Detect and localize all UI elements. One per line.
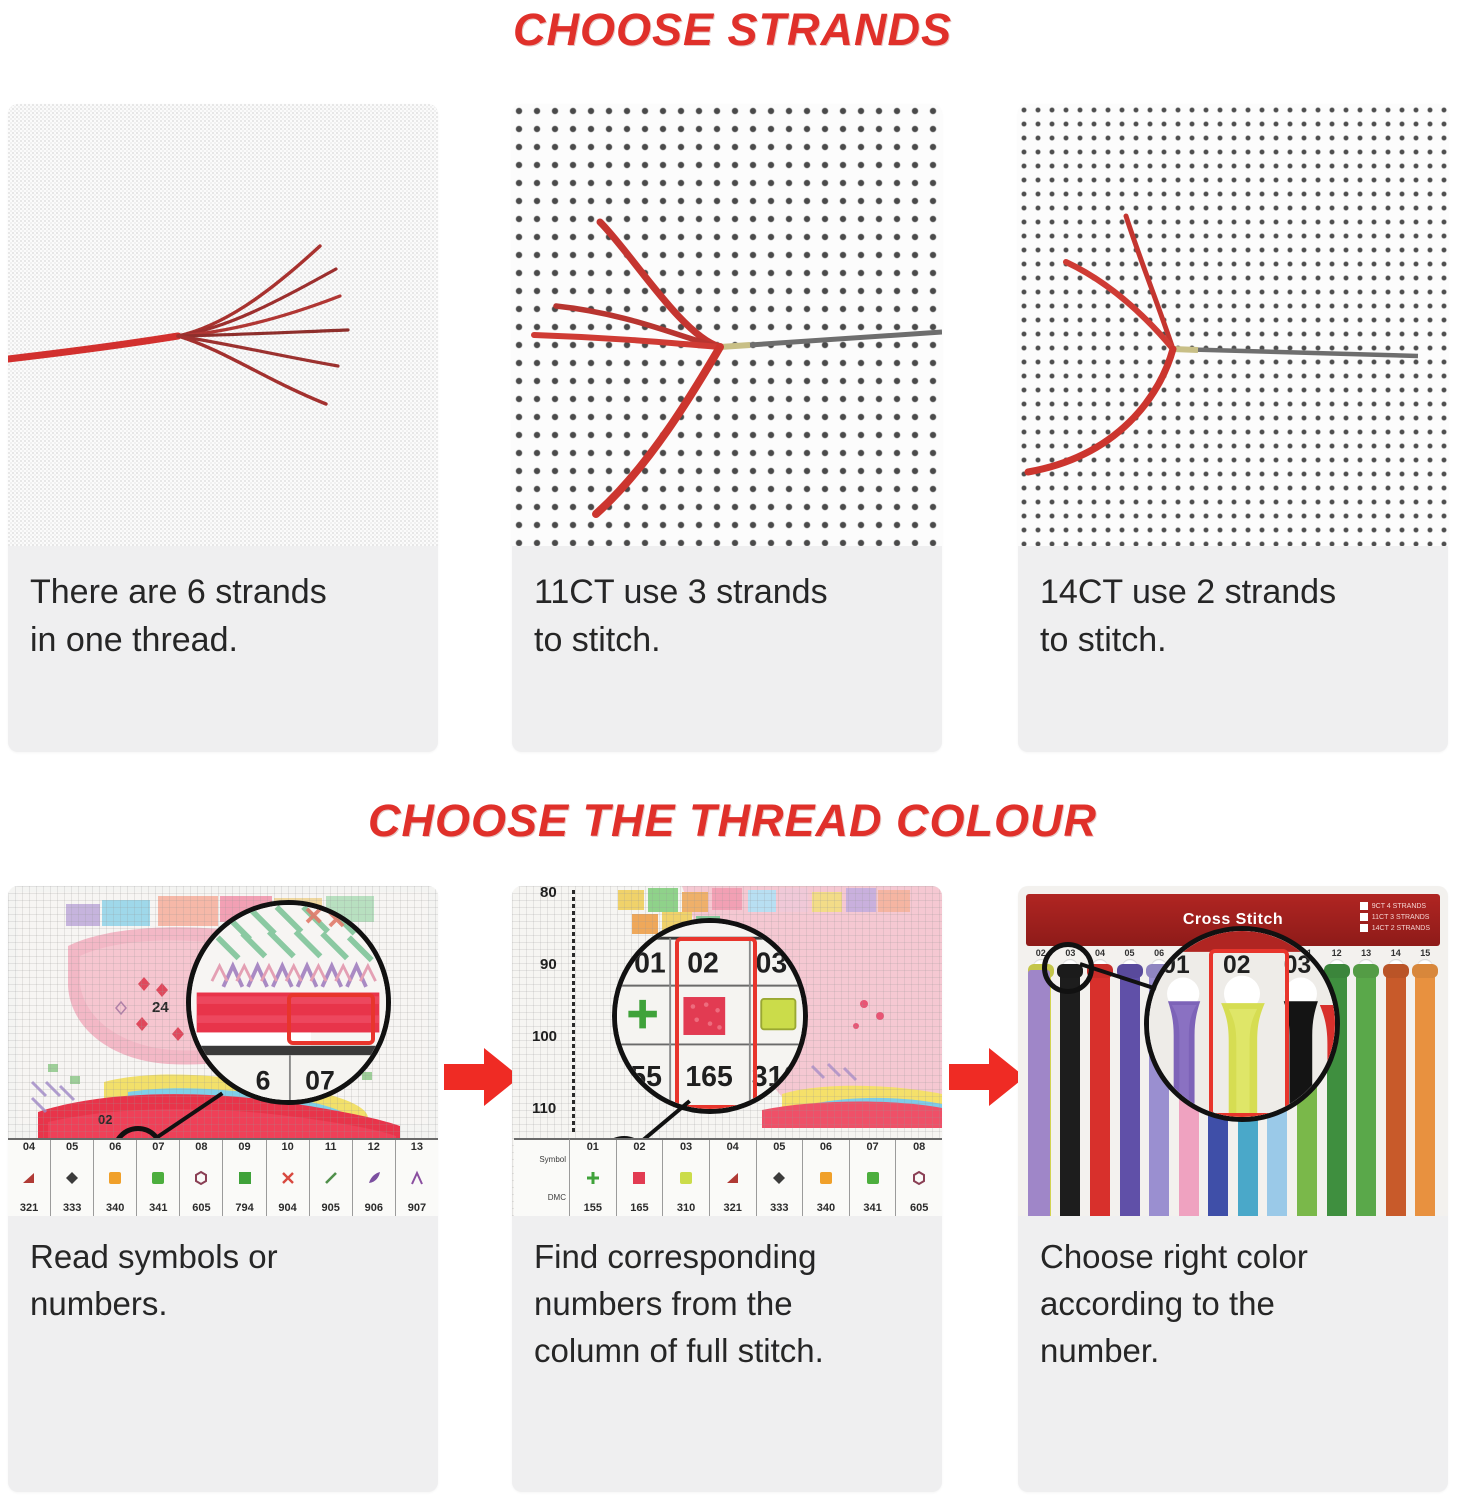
card-choose-color: Cross Stitch 9CT 4 STRANDS 11CT 3 STRAND… xyxy=(1018,886,1448,1492)
legend-column: 06 340 xyxy=(803,1140,850,1216)
legend-code: 321 xyxy=(724,1203,742,1214)
legend-column: 13 907 xyxy=(396,1140,438,1216)
caption-line-1: Read symbols or xyxy=(30,1234,416,1281)
caption-line-3: number. xyxy=(1040,1328,1426,1375)
axis-label-100: 100 xyxy=(532,1028,557,1045)
legend-column: 04 321 xyxy=(710,1140,757,1216)
legend-column: 07 341 xyxy=(137,1140,180,1216)
legend-code: 340 xyxy=(106,1203,124,1214)
checkbox-icon xyxy=(1360,924,1368,932)
caption-line-1: Choose right color xyxy=(1040,1234,1426,1281)
red-filled-square-icon xyxy=(630,1169,648,1187)
legend-column: 05 333 xyxy=(757,1140,804,1216)
legend-code: 905 xyxy=(322,1203,340,1214)
svg-text:01: 01 xyxy=(634,947,666,979)
slot-number: 14 xyxy=(1381,948,1411,958)
arrow-right-icon-2 xyxy=(949,1046,1025,1108)
card-six-strands-caption: There are 6 strands in one thread. xyxy=(8,546,438,675)
legend-number: 07 xyxy=(152,1142,164,1153)
thread-skein xyxy=(1120,970,1140,1216)
11ct-aida-needle-photo xyxy=(512,104,942,546)
six-strand-thread-photo xyxy=(8,104,438,546)
legend-number: 08 xyxy=(913,1142,925,1153)
caption-line-1: 11CT use 3 strands xyxy=(534,568,920,616)
green-filled-square-icon xyxy=(236,1169,254,1187)
legend-column: 02 165 xyxy=(617,1140,664,1216)
organizer-slot: 05 xyxy=(1115,948,1145,1216)
organizer-legend-row: 9CT 4 STRANDS xyxy=(1360,902,1430,910)
legend-column: 07 341 xyxy=(850,1140,897,1216)
axis-label-110: 110 xyxy=(532,1100,556,1117)
legend-code: 155 xyxy=(584,1203,602,1214)
legend-number: 04 xyxy=(727,1142,739,1153)
card-11ct-three-strands: 11CT use 3 strands to stitch. xyxy=(512,104,942,752)
organizer-legend-row: 11CT 3 STRANDS xyxy=(1360,913,1430,921)
card-six-strands: There are 6 strands in one thread. xyxy=(8,104,438,752)
legend-number: 06 xyxy=(109,1142,121,1153)
legend-column: 06 340 xyxy=(94,1140,137,1216)
legend-code: 907 xyxy=(408,1203,426,1214)
filled-triangle-icon xyxy=(724,1169,742,1187)
legend-number: 13 xyxy=(411,1142,423,1153)
legend-row-labels: Symbol DMC xyxy=(514,1138,570,1216)
organizer-legend: 9CT 4 STRANDS 11CT 3 STRANDS 14CT 2 STRA… xyxy=(1360,902,1430,935)
legend-code: 333 xyxy=(63,1203,81,1214)
green-plus-icon xyxy=(584,1169,602,1187)
legend-column: 10 904 xyxy=(267,1140,310,1216)
legend-code: 906 xyxy=(365,1203,383,1214)
needle-icon xyxy=(1173,349,1418,356)
legend-column: 04 321 xyxy=(8,1140,51,1216)
three-strand-needle-illustration xyxy=(512,104,942,546)
open-hexagon-icon xyxy=(192,1169,210,1187)
magnifier-lens-organizer: 01 02 03 xyxy=(1144,926,1340,1122)
legend-code: 321 xyxy=(20,1203,38,1214)
green-slash-icon xyxy=(322,1169,340,1187)
two-strand-needle-illustration xyxy=(1018,104,1448,546)
legend-code: 340 xyxy=(817,1203,835,1214)
legend-column: 05 333 xyxy=(51,1140,94,1216)
card-choose-color-caption: Choose right color according to the numb… xyxy=(1018,1216,1448,1385)
legend-number: 07 xyxy=(866,1142,878,1153)
card-find-numbers-caption: Find corresponding numbers from the colu… xyxy=(512,1216,942,1385)
slot-number: 12 xyxy=(1322,948,1352,958)
caption-line-2: to stitch. xyxy=(1040,616,1426,664)
legend-code: 333 xyxy=(770,1203,788,1214)
card-14ct-two-strands: 14CT use 2 strands to stitch. xyxy=(1018,104,1448,752)
legend-row-label-symbol: Symbol xyxy=(539,1155,566,1164)
thread-skein xyxy=(1090,970,1110,1216)
card-14ct-caption: 14CT use 2 strands to stitch. xyxy=(1018,546,1448,675)
legend-column: 03 310 xyxy=(663,1140,710,1216)
legend-number: 05 xyxy=(773,1142,785,1153)
caption-line-1: There are 6 strands xyxy=(30,568,416,616)
thread-organizer-photo: Cross Stitch 9CT 4 STRANDS 11CT 3 STRAND… xyxy=(1018,886,1448,1216)
open-hexagon-icon xyxy=(910,1169,928,1187)
legend-number: 11 xyxy=(325,1142,337,1153)
legend-row-label-dmc: DMC xyxy=(548,1193,566,1202)
legend-code: 341 xyxy=(863,1203,881,1214)
organizer-slot: 13 xyxy=(1351,948,1381,1216)
caption-line-1: 14CT use 2 strands xyxy=(1040,568,1426,616)
pattern-legend-photo: 80 90 100 110 xyxy=(512,886,942,1216)
14ct-aida-needle-photo xyxy=(1018,104,1448,546)
checkbox-icon xyxy=(1360,902,1368,910)
legend-number: 03 xyxy=(680,1142,692,1153)
purple-leaf-icon xyxy=(365,1169,383,1187)
caption-line-2: numbers from the xyxy=(534,1281,920,1328)
organizer-legend-text: 14CT 2 STRANDS xyxy=(1372,925,1430,932)
chart-y-axis xyxy=(572,890,575,1134)
legend-number: 12 xyxy=(368,1142,380,1153)
organizer-legend-text: 9CT 4 STRANDS xyxy=(1372,903,1426,910)
caption-line-2: numbers. xyxy=(30,1281,416,1328)
orange-square-icon xyxy=(817,1169,835,1187)
slot-number: 15 xyxy=(1411,948,1441,958)
section-title-choose-strands: CHOOSE STRANDS xyxy=(0,4,1465,56)
organizer-legend-text: 11CT 3 STRANDS xyxy=(1372,914,1430,921)
magnified-organizer-highlight-box xyxy=(1209,949,1289,1117)
caption-line-1: Find corresponding xyxy=(534,1234,920,1281)
needle-icon xyxy=(720,332,942,347)
magnified-legend-highlight-box xyxy=(675,937,757,1109)
legend-number: 02 xyxy=(633,1142,645,1153)
legend-column: 01 155 xyxy=(570,1140,617,1216)
legend-code: 165 xyxy=(630,1203,648,1214)
legend-number: 06 xyxy=(820,1142,832,1153)
legend-strip-full-stitch: 01 155 02 165 03 310 04 321 xyxy=(570,1138,942,1216)
organizer-slot: 04 xyxy=(1085,948,1115,1216)
legend-number: 05 xyxy=(66,1142,78,1153)
legend-number: 10 xyxy=(281,1142,293,1153)
legend-code: 794 xyxy=(235,1203,253,1214)
card-read-symbols: 24 02 xyxy=(8,886,438,1492)
section-title-choose-thread-colour: CHOOSE THE THREAD COLOUR xyxy=(0,795,1465,847)
thread-skein xyxy=(1415,970,1435,1216)
legend-number: 01 xyxy=(587,1142,599,1153)
axis-label-80: 80 xyxy=(540,886,557,901)
axis-label-90: 90 xyxy=(540,956,557,973)
legend-column: 08 605 xyxy=(896,1140,942,1216)
pattern-chart-photo: 24 02 xyxy=(8,886,438,1216)
legend-code: 605 xyxy=(192,1203,210,1214)
red-cross-icon xyxy=(279,1169,297,1187)
legend-code: 605 xyxy=(910,1203,928,1214)
slot-number: 13 xyxy=(1351,948,1381,958)
card-11ct-caption: 11CT use 3 strands to stitch. xyxy=(512,546,942,675)
svg-text:07: 07 xyxy=(305,1066,335,1096)
organizer-slot: 15 xyxy=(1411,948,1441,1216)
orange-square-icon xyxy=(106,1169,124,1187)
legend-code: 310 xyxy=(677,1203,695,1214)
legend-number: 09 xyxy=(238,1142,250,1153)
green-square-icon xyxy=(149,1169,167,1187)
pattern-legend-strip: 04 321 05 333 06 340 07 341 xyxy=(8,1138,438,1216)
thread-skein xyxy=(1386,970,1406,1216)
legend-column: 09 794 xyxy=(223,1140,266,1216)
green-square-icon xyxy=(864,1169,882,1187)
slot-number: 05 xyxy=(1115,948,1145,958)
six-strand-illustration xyxy=(8,104,438,546)
magnifier-lens-legend: 01 02 03 55 165 310 xyxy=(612,918,808,1114)
legend-code: 904 xyxy=(278,1203,296,1214)
svg-text:6: 6 xyxy=(256,1066,271,1096)
legend-code: 341 xyxy=(149,1203,167,1214)
card-find-numbers: 80 90 100 110 xyxy=(512,886,942,1492)
thread-skein-first xyxy=(1028,970,1050,1216)
thread-skein xyxy=(1060,970,1080,1216)
yellow-green-square-icon xyxy=(677,1169,695,1187)
legend-number: 08 xyxy=(195,1142,207,1153)
caption-line-2: in one thread. xyxy=(30,616,416,664)
caption-line-2: to stitch. xyxy=(534,616,920,664)
arrow-right-icon-1 xyxy=(444,1046,520,1108)
purple-caret-icon xyxy=(408,1169,426,1187)
magnified-highlight-box xyxy=(287,993,375,1045)
legend-column: 11 905 xyxy=(310,1140,353,1216)
black-diamond-icon xyxy=(770,1169,788,1187)
caption-line-2: according to the xyxy=(1040,1281,1426,1328)
filled-triangle-icon xyxy=(20,1169,38,1187)
black-diamond-icon xyxy=(63,1169,81,1187)
thread-skein xyxy=(1356,970,1376,1216)
svg-text:03: 03 xyxy=(756,947,788,979)
magnifier-lens-pattern: 07 6 xyxy=(186,900,391,1105)
card-read-symbols-caption: Read symbols or numbers. xyxy=(8,1216,438,1338)
caption-line-3: column of full stitch. xyxy=(534,1328,920,1375)
checkbox-icon xyxy=(1360,913,1368,921)
infographic-page: CHOOSE STRANDS There are 6 strands in on… xyxy=(0,0,1465,1500)
legend-column: 08 605 xyxy=(180,1140,223,1216)
organizer-legend-row: 14CT 2 STRANDS xyxy=(1360,924,1430,932)
organizer-slot: 14 xyxy=(1381,948,1411,1216)
legend-column: 12 906 xyxy=(353,1140,396,1216)
legend-number: 04 xyxy=(23,1142,35,1153)
